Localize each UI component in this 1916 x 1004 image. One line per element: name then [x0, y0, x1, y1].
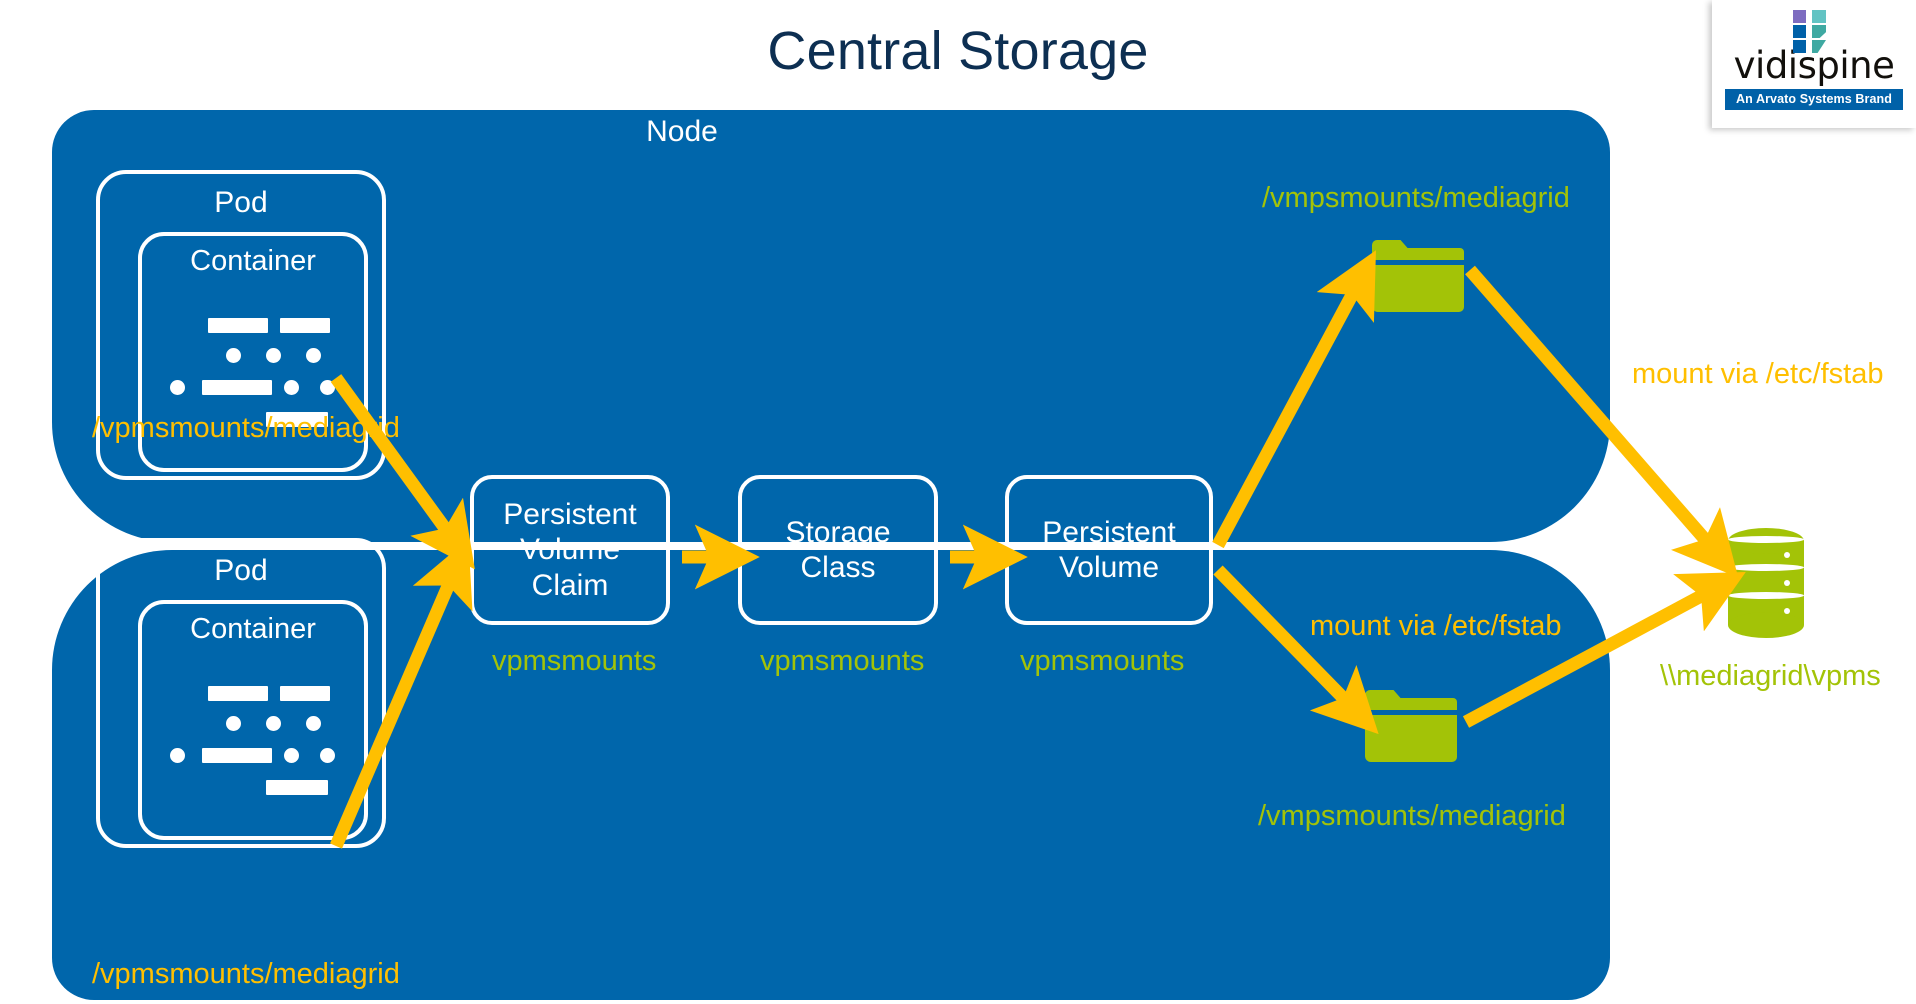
pvc-line-1: Persistent	[503, 497, 636, 532]
pod-bottom-mount-path: /vpmsmounts/mediagrid	[92, 958, 400, 991]
persistent-volume-sublabel: vpmsmounts	[1020, 645, 1184, 678]
vidispine-mark-icon	[1793, 10, 1835, 44]
node-label: Node	[52, 115, 1312, 149]
pod-bottom-label: Pod	[100, 554, 382, 588]
storage-class-line-2: Class	[785, 550, 890, 585]
persistent-volume-line-1: Persistent	[1042, 515, 1175, 550]
folder-bottom-label: /vmpsmounts/mediagrid	[1258, 800, 1566, 833]
pod-top-label: Pod	[100, 186, 382, 220]
pvc-sublabel: vpmsmounts	[492, 645, 656, 678]
box-persistent-volume: Persistent Volume	[1005, 475, 1213, 625]
container-bottom-glyph-icon	[178, 686, 328, 806]
box-persistent-volume-claim: Persistent Volume Claim	[470, 475, 670, 625]
pvc-line-3: Claim	[503, 568, 636, 603]
storage-class-sublabel: vpmsmounts	[760, 645, 924, 678]
pod-top-mount-path: /vpmsmounts/mediagrid	[92, 412, 400, 445]
box-storage-class: Storage Class	[738, 475, 938, 625]
folder-top-label: /vmpsmounts/mediagrid	[1262, 182, 1570, 215]
mount-note-top: mount via /etc/fstab	[1632, 358, 1883, 391]
container-top-label: Container	[142, 245, 364, 278]
database-cylinder-icon	[1728, 528, 1804, 622]
vidispine-logo: vidispine An Arvato Systems Brand	[1712, 0, 1916, 128]
folder-top-icon	[1372, 240, 1464, 312]
persistent-volume-line-2: Volume	[1042, 550, 1175, 585]
diagram-canvas: Central Storage vidispine An Arvato Syst…	[0, 0, 1916, 1004]
pvc-line-2: Volume	[503, 532, 636, 567]
storage-class-line-1: Storage	[785, 515, 890, 550]
logo-tagline: An Arvato Systems Brand	[1725, 89, 1903, 110]
container-bottom-label: Container	[142, 613, 364, 646]
mount-note-bottom: mount via /etc/fstab	[1310, 610, 1561, 643]
storage-target-label: \\mediagrid\vpms	[1660, 660, 1881, 693]
folder-bottom-icon	[1365, 690, 1457, 762]
page-title: Central Storage	[0, 22, 1916, 81]
